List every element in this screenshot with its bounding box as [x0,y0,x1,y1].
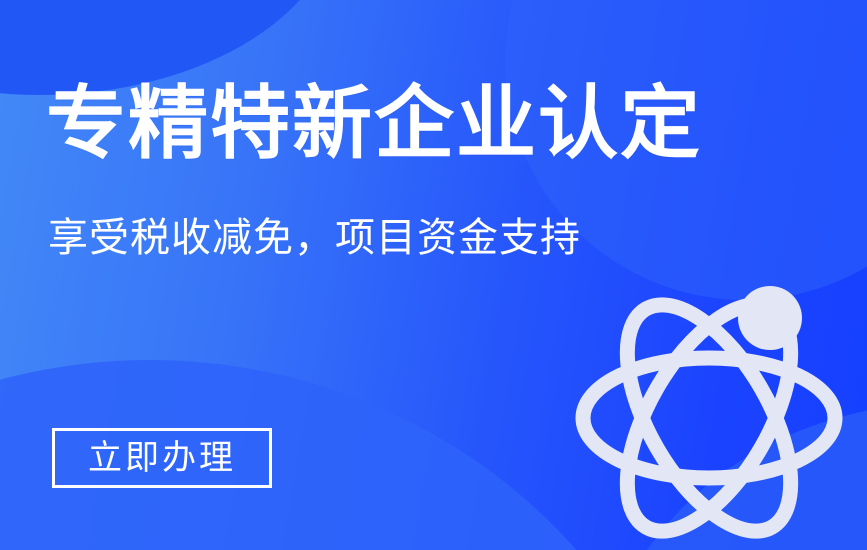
banner-subtitle: 享受税收减免，项目资金支持 [48,216,581,260]
apply-now-button[interactable]: 立即办理 [52,428,272,488]
promo-banner: 专精特新企业认定 享受税收减免，项目资金支持 立即办理 [0,0,867,550]
banner-content: 专精特新企业认定 享受税收减免，项目资金支持 立即办理 [0,0,867,550]
page-title: 专精特新企业认定 [46,84,702,164]
